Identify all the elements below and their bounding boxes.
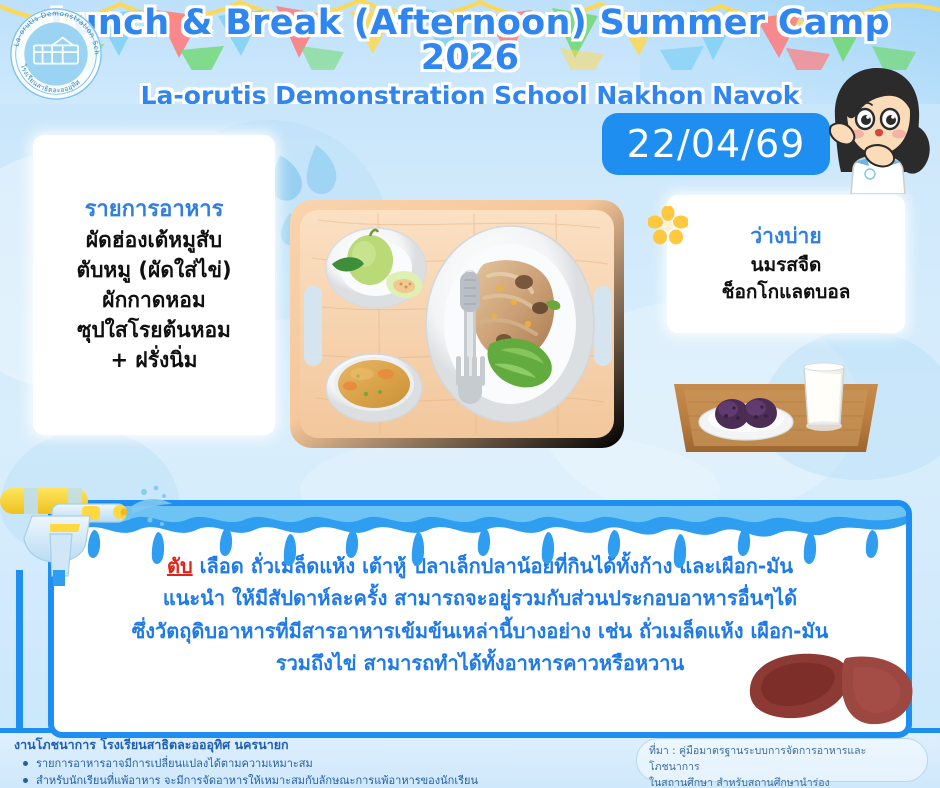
date-badge: 22/04/69 bbox=[602, 113, 830, 175]
footer-org: งานโภชนาการ โรงเรียนสาธิตละอออุทิศ นครนา… bbox=[14, 736, 614, 754]
source-citation: ที่มา : คู่มือมาตรฐานระบบการจัดการอาหารแ… bbox=[636, 738, 928, 782]
snack-card: ว่างบ่าย นมรสจืด ช็อกโกแลตบอล bbox=[672, 200, 900, 328]
poster-title: Lunch & Break (Afternoon) Summer Camp 20… bbox=[0, 6, 940, 76]
flower-icon bbox=[648, 206, 688, 246]
girl-character-icon bbox=[815, 62, 940, 194]
left-accent-bar bbox=[16, 570, 23, 732]
snack-item: ช็อกโกแลตบอล bbox=[722, 279, 851, 306]
footer-notes-block: งานโภชนาการ โรงเรียนสาธิตละอออุทิศ นครนา… bbox=[14, 736, 614, 788]
water-gun-icon bbox=[0, 466, 174, 586]
menu-item: ซุปใสโรยต้นหอม bbox=[77, 316, 231, 346]
menu-item: ผักกาดหอม bbox=[102, 286, 205, 316]
poster-canvas: Lunch & Break (Afternoon) Summer Camp 20… bbox=[0, 0, 940, 788]
header-title-block: Lunch & Break (Afternoon) Summer Camp 20… bbox=[0, 6, 940, 104]
menu-item: + ฝรั่งนิ่ม bbox=[111, 346, 198, 376]
info-line-2: แนะนำ ให้มีสัปดาห์ละครั้ง สามารถจะอยู่รว… bbox=[70, 582, 890, 614]
footer-note: สำหรับนักเรียนที่แพ้อาหาร จะมีการจัดอาหา… bbox=[14, 772, 614, 788]
date-value: 22/04/69 bbox=[627, 122, 806, 166]
water-drip-decor bbox=[54, 502, 906, 576]
snack-tray-image bbox=[668, 360, 884, 458]
menu-card: รายการอาหาร ผัดฮ่องเต้หมูสับ ตับหมู (ผัด… bbox=[38, 140, 270, 430]
menu-card-title: รายการอาหาร bbox=[85, 195, 224, 225]
snack-card-title: ว่างบ่าย bbox=[750, 222, 821, 251]
poster-header: Lunch & Break (Afternoon) Summer Camp 20… bbox=[0, 0, 940, 104]
poster-subtitle: La-orutis Demonstration School Nakhon Na… bbox=[0, 83, 940, 104]
liver-icon bbox=[742, 636, 920, 728]
lunch-tray-image bbox=[288, 198, 626, 450]
footer-note-list: รายการอาหารอาจมีการเปลี่ยนแปลงได้ตามความ… bbox=[14, 755, 614, 788]
source-line-1: ที่มา : คู่มือมาตรฐานระบบการจัดการอาหารแ… bbox=[649, 744, 915, 776]
footer-note: รายการอาหารอาจมีการเปลี่ยนแปลงได้ตามความ… bbox=[14, 755, 614, 772]
school-logo-icon: La-orutis Demonstration School โรงเรียนส… bbox=[8, 6, 104, 102]
source-line-2: ในสถานศึกษา สำหรับสถานศึกษานำร่อง bbox=[649, 776, 915, 788]
menu-item: ผัดฮ่องเต้หมูสับ bbox=[86, 226, 222, 256]
snack-item: นมรสจืด bbox=[751, 252, 822, 279]
menu-item: ตับหมู (ผัดใส่ไข่) bbox=[76, 256, 231, 286]
